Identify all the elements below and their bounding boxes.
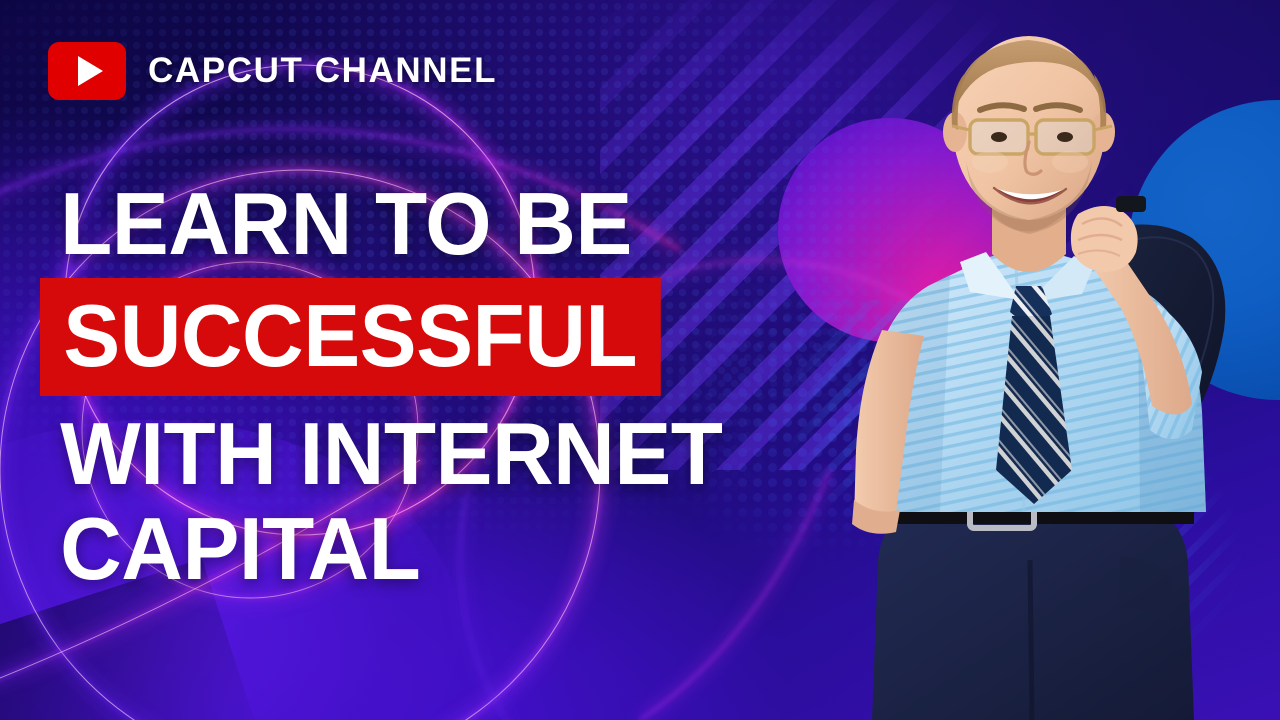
wristwatch (1116, 196, 1146, 212)
person-photo (820, 0, 1280, 720)
headline-line-4: CAPITAL (0, 507, 776, 591)
play-triangle-icon (78, 56, 103, 86)
channel-name-label: CAPCUT CHANNEL (148, 51, 497, 91)
headline-line-1: LEARN TO BE (0, 182, 776, 266)
channel-branding[interactable]: CAPCUT CHANNEL (48, 42, 497, 100)
headline-line-3: WITH INTERNET (0, 412, 776, 496)
head (943, 36, 1115, 234)
headline-block: LEARN TO BE SUCCESSFUL WITH INTERNET CAP… (0, 182, 800, 591)
youtube-play-icon[interactable] (48, 42, 126, 100)
headline-highlight: SUCCESSFUL (40, 278, 660, 396)
thumbnail-canvas: CAPCUT CHANNEL LEARN TO BE SUCCESSFUL WI… (0, 0, 1280, 720)
